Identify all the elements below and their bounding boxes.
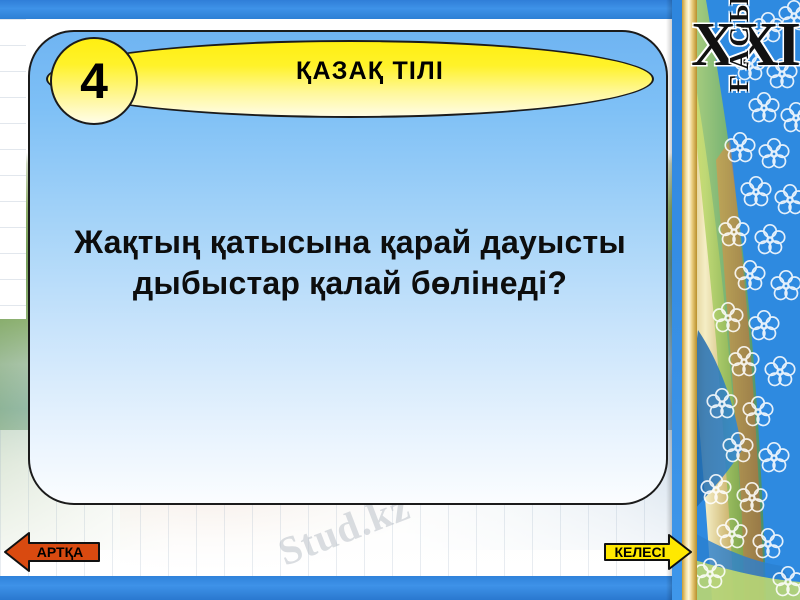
question-number: 4 <box>80 56 108 106</box>
arrow-right-icon <box>603 532 693 572</box>
subject-title: ҚАЗАҚ ТІЛІ <box>160 32 580 110</box>
back-button[interactable]: АРТҚА <box>3 530 101 574</box>
question-text: Жақтың қатысына қарай дауысты дыбыстар қ… <box>40 222 660 304</box>
question-card: ҚАЗАҚ ТІЛІ 4 Жақтың қатысына қарай дауыс… <box>28 30 668 505</box>
background-ruled-paper-left <box>0 19 26 319</box>
sidebar-vertical-text: ҒАСЫР КӨЗҚАРАСЫ <box>724 0 755 92</box>
arrow-left-icon <box>3 530 101 574</box>
slide-stage: Stud.kz - Stud.kz Stud.kz Stud.kz - Stud… <box>0 0 800 600</box>
next-button[interactable]: КЕЛЕСІ <box>603 532 693 572</box>
decorative-sidebar: XXI ҒАСЫР КӨЗҚАРАСЫ <box>672 0 800 600</box>
sidebar-vertical-text-wrap: ҒАСЫР КӨЗҚАРАСЫ <box>672 0 800 600</box>
question-number-badge: 4 <box>50 37 138 125</box>
